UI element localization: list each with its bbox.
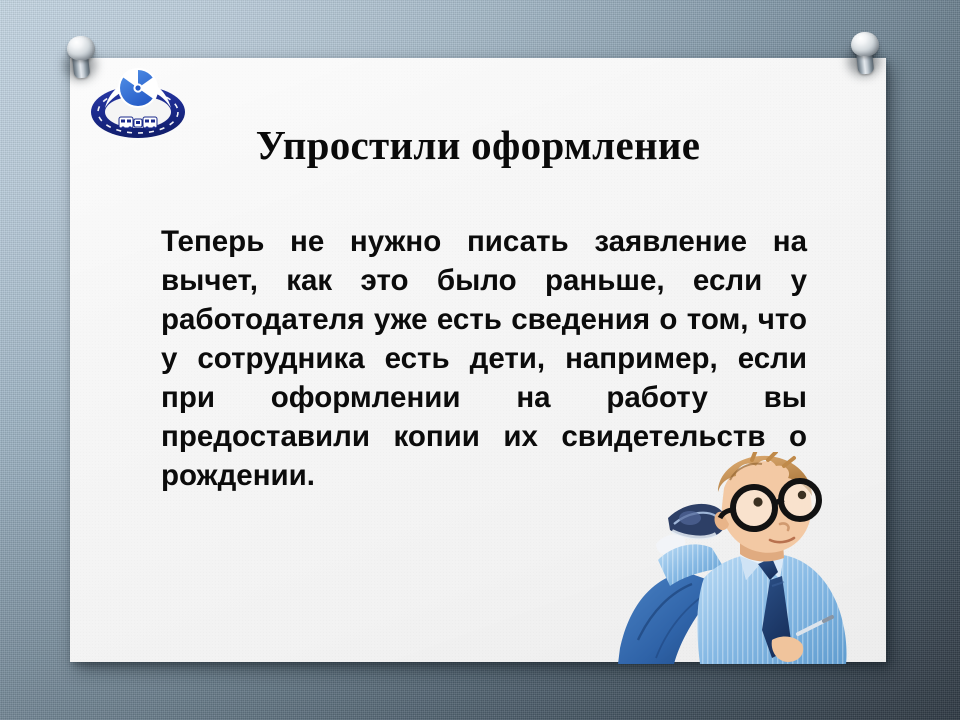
boy-photo [612,452,888,664]
slide-title: Упростили оформление [70,124,886,167]
pushpin-head [851,32,879,56]
top-left-pushpin [62,32,102,88]
pushpin-head [67,36,95,60]
slide-canvas: Упростили оформление Теперь не нужно пис… [0,0,960,720]
top-right-pushpin [846,28,886,84]
